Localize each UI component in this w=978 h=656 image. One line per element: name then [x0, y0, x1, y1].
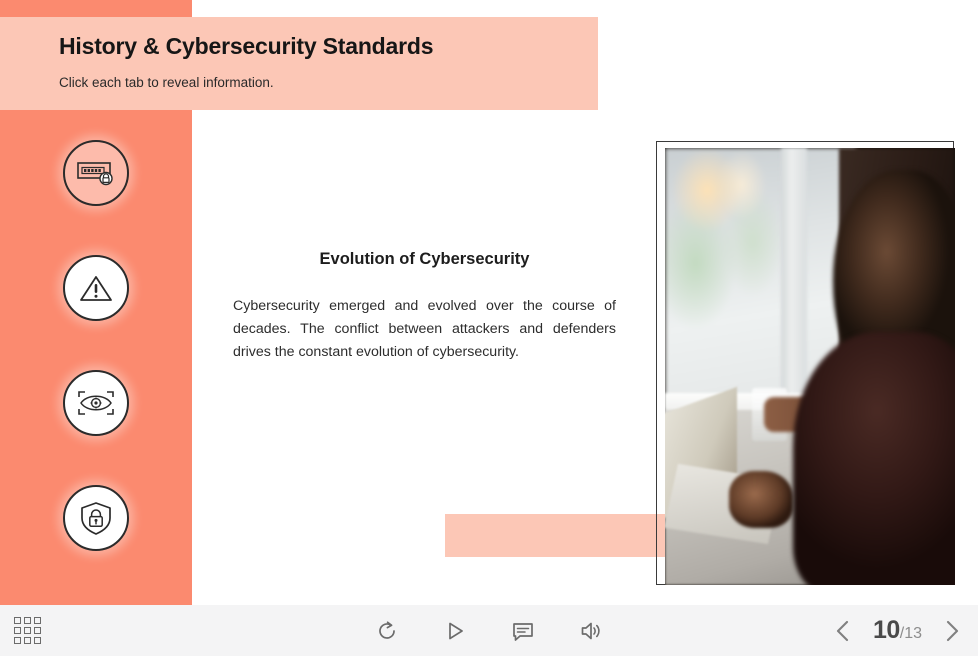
captions-icon[interactable] [511, 619, 535, 643]
content-heading: Evolution of Cybersecurity [233, 250, 616, 269]
sidebar-item-shield-lock[interactable] [0, 485, 192, 600]
play-icon[interactable] [443, 619, 467, 643]
accent-bar [445, 514, 680, 557]
tab-circle [63, 255, 129, 321]
grid-menu-icon[interactable] [14, 617, 41, 644]
shield-lock-icon [79, 500, 113, 536]
page-indicator: 10 /13 [873, 616, 922, 645]
current-page: 10 [873, 616, 900, 645]
warning-triangle-icon [78, 272, 114, 304]
replay-icon[interactable] [375, 619, 399, 643]
chevron-left-icon[interactable] [831, 617, 855, 645]
page-instruction: Click each tab to reveal information. [59, 75, 598, 90]
tab-list [0, 140, 192, 600]
playback-toolbar: 10 /13 [0, 605, 978, 656]
total-pages: /13 [900, 625, 922, 643]
photo [665, 148, 955, 585]
volume-icon[interactable] [579, 619, 603, 643]
content-body: Cybersecurity emerged and evolved over t… [233, 295, 616, 364]
content-panel: Evolution of Cybersecurity Cybersecurity… [233, 250, 616, 364]
chevron-right-icon[interactable] [940, 617, 964, 645]
sidebar-item-warning[interactable] [0, 255, 192, 370]
tab-circle [63, 370, 129, 436]
slide-stage: History & Cybersecurity Standards Click … [0, 0, 978, 656]
tab-circle [63, 485, 129, 551]
title-banner: History & Cybersecurity Standards Click … [0, 17, 598, 110]
page-title: History & Cybersecurity Standards [59, 33, 598, 61]
tab-circle [63, 140, 129, 206]
eye-target-icon [76, 388, 116, 418]
password-lock-icon [76, 156, 116, 190]
sidebar-item-surveillance[interactable] [0, 370, 192, 485]
sidebar-item-password-lock[interactable] [0, 140, 192, 255]
